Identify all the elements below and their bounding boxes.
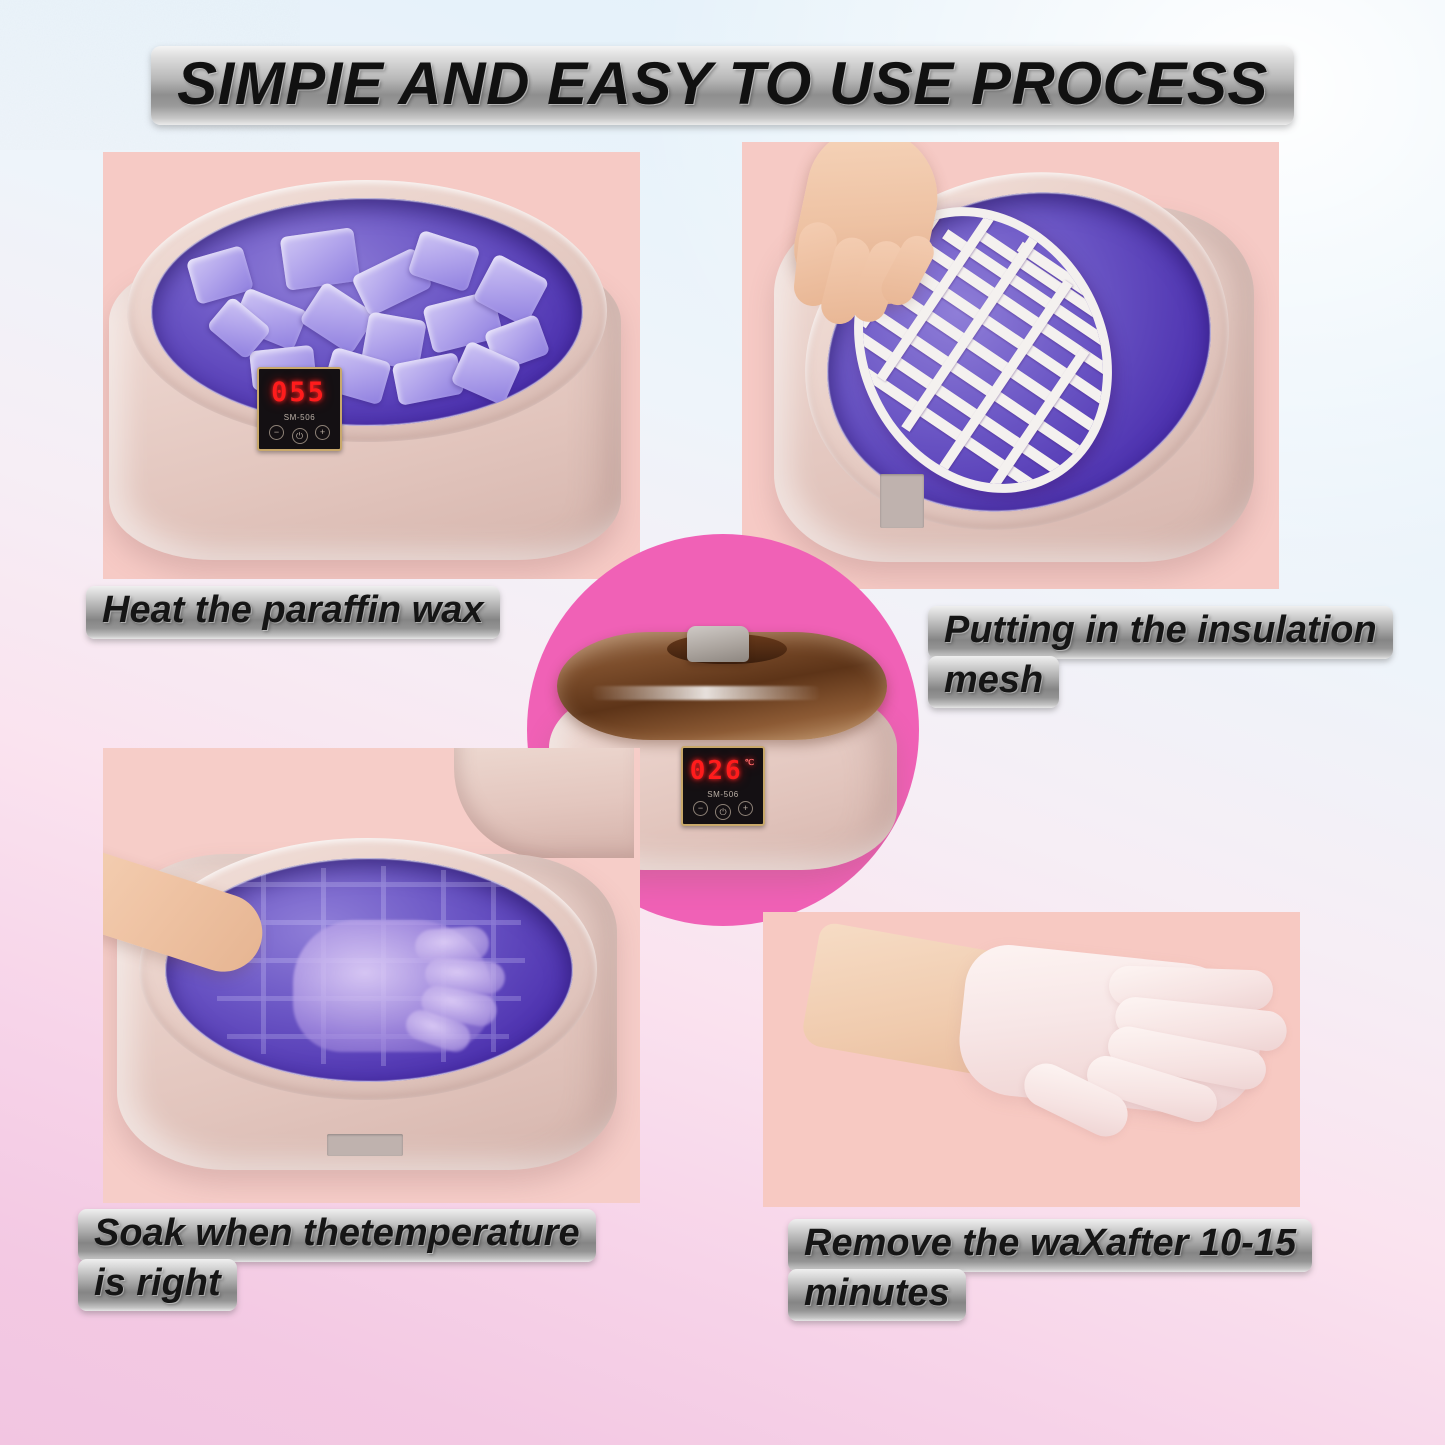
caption-text: Soak when thetemperature xyxy=(94,1212,580,1254)
wax-coated-hand xyxy=(809,928,1277,1168)
caption-line: Putting in the insulation xyxy=(928,606,1393,659)
caption-line: Remove the waXafter 10-15 xyxy=(788,1219,1312,1272)
control-panel[interactable]: 055 SM-506 − + ⏻ xyxy=(257,367,342,451)
lid-handle[interactable] xyxy=(687,626,749,662)
caption-text: Heat the paraffin wax xyxy=(102,589,484,631)
hand-in-wax xyxy=(293,920,493,1052)
caption-remove: Remove the waXafter 10-15 minutes xyxy=(788,1219,1312,1321)
caption-soak: Soak when thetemperature is right xyxy=(78,1209,596,1311)
minus-icon[interactable]: − xyxy=(693,801,708,816)
temperature-value: 055 xyxy=(271,379,326,406)
caption-line: Heat the paraffin wax xyxy=(86,586,500,639)
caption-text: Remove the waXafter 10-15 xyxy=(804,1222,1296,1264)
caption-heat: Heat the paraffin wax xyxy=(86,586,500,639)
power-icon[interactable]: ⏻ xyxy=(292,428,308,444)
wax-blocks xyxy=(151,198,583,426)
wax-warmer-open: 055 SM-506 − + ⏻ xyxy=(109,172,629,567)
plus-icon[interactable]: + xyxy=(738,801,753,816)
caption-line: Soak when thetemperature xyxy=(78,1209,596,1262)
headline-banner: SIMPIE AND EASY TO USE PROCESS xyxy=(0,46,1445,125)
temperature-display: 026 ℃ xyxy=(690,758,757,784)
caption-text: is right xyxy=(94,1262,221,1304)
page-title: SIMPIE AND EASY TO USE PROCESS xyxy=(177,52,1268,115)
step-image-mesh xyxy=(742,142,1279,589)
plus-icon[interactable]: + xyxy=(315,425,330,440)
lid-highlight xyxy=(591,686,821,700)
caption-line: is right xyxy=(78,1259,237,1312)
step-image-remove xyxy=(763,912,1300,1207)
model-label: SM-506 xyxy=(284,414,316,422)
headline-band: SIMPIE AND EASY TO USE PROCESS xyxy=(151,46,1294,125)
caption-mesh: Putting in the insulation mesh xyxy=(928,606,1393,708)
caption-text: mesh xyxy=(944,659,1043,701)
wax-basin xyxy=(151,198,583,426)
temperature-display: 055 xyxy=(271,379,328,406)
step-image-soak xyxy=(103,748,640,1203)
minus-icon[interactable]: − xyxy=(269,425,284,440)
model-label: SM-506 xyxy=(707,791,739,799)
control-panel[interactable]: 026 ℃ SM-506 − + ⏻ xyxy=(681,746,765,826)
wax-warmer-with-mesh xyxy=(764,160,1274,580)
step-image-heat: 055 SM-506 − + ⏻ xyxy=(103,152,640,579)
temperature-value: 026 xyxy=(690,758,743,784)
power-icon[interactable]: ⏻ xyxy=(715,804,731,820)
caption-line: mesh xyxy=(928,656,1059,709)
caption-text: Putting in the insulation xyxy=(944,609,1377,651)
temperature-unit: ℃ xyxy=(745,759,757,768)
caption-line: minutes xyxy=(788,1269,966,1322)
wax-warmer-topview xyxy=(117,828,627,1183)
product-infographic: SIMPIE AND EASY TO USE PROCESS xyxy=(0,0,1445,1445)
caption-text: minutes xyxy=(804,1272,950,1314)
